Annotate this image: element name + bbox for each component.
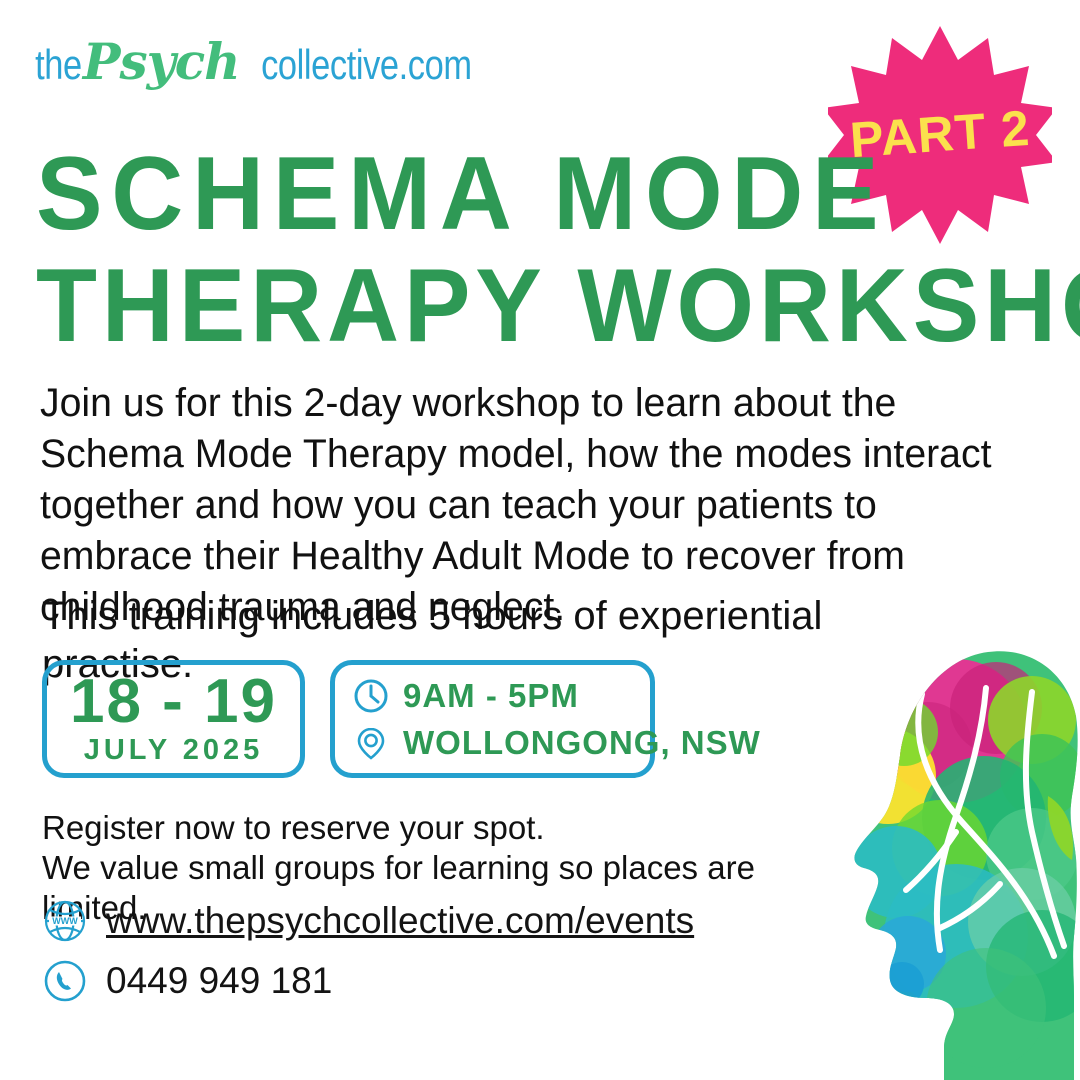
poster-canvas: the Psych collective.com PART 2 SCHEMA M… [0,0,1080,1080]
logo-collective-text: collective.com [261,41,472,89]
location-text: WOLLONGONG, NSW [403,724,761,762]
phone-row[interactable]: 0449 949 181 [42,958,694,1004]
headline-line-1: SCHEMA MODE [36,142,996,246]
date-box: 18 - 19 JULY 2025 [42,660,305,778]
svg-text:WWW: WWW [52,916,78,926]
map-pin-icon [351,723,391,763]
phone-number[interactable]: 0449 949 181 [106,960,332,1002]
globe-icon: WWW [42,898,88,944]
register-line-1: Register now to reserve your spot. [42,808,862,848]
logo-psych-script: Psych [83,32,240,91]
page-title: SCHEMA MODE THERAPY WORKSHOP [36,142,1036,366]
date-month-text: JULY 2025 [84,734,264,766]
colorful-head-illustration [836,636,1080,1080]
brand-logo: the Psych collective.com [30,32,494,91]
logo-the-text: the [35,41,82,89]
headline-line-2: THERAPY WORKSHOP [36,254,996,358]
website-row[interactable]: WWW www.thepsychcollective.com/events [42,898,694,944]
time-text: 9AM - 5PM [403,677,579,715]
contact-block: WWW www.thepsychcollective.com/events 04… [42,898,694,1018]
website-url[interactable]: www.thepsychcollective.com/events [106,900,694,942]
clock-icon [351,676,391,716]
location-row: WOLLONGONG, NSW [351,719,650,766]
date-range-text: 18 - 19 [70,672,277,732]
time-row: 9AM - 5PM [351,672,650,719]
head-profile-graphic [836,636,1080,1080]
time-location-box: 9AM - 5PM WOLLONGONG, NSW [330,660,655,778]
phone-icon [42,958,88,1004]
